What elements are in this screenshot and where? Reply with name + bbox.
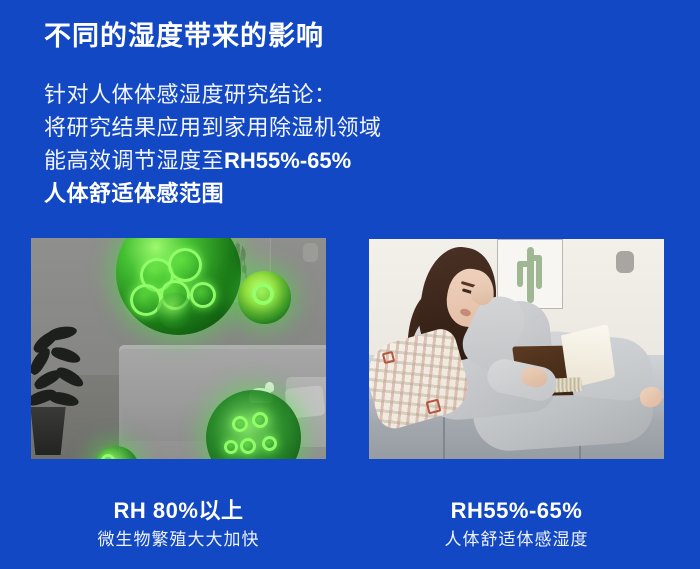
potted-plant-leaves <box>31 323 95 415</box>
wall-sensor-icon <box>303 243 318 262</box>
photo-comfort-humidity <box>369 239 664 459</box>
body-copy-block: 针对人体体感湿度研究结论： 将研究结果应用到家用除湿机领域 能高效调节湿度至RH… <box>44 78 382 210</box>
caption-subtitle: 微生物繁殖大大加快 <box>31 526 326 554</box>
microbe-icon <box>157 293 193 329</box>
microbe-icon <box>238 271 291 324</box>
sofa-seam <box>443 417 445 459</box>
body-line-3: 能高效调节湿度至RH55%-65% <box>44 144 382 177</box>
caption-high-humidity: RH 80%以上 微生物繁殖大大加快 <box>31 496 326 554</box>
cactus-art-icon <box>515 245 545 303</box>
body-line-1: 针对人体体感湿度研究结论： <box>44 78 382 111</box>
body-line-3-range: RH55%-65% <box>224 148 351 173</box>
dark-living-room-scene <box>31 238 326 459</box>
photo-high-humidity <box>31 238 326 459</box>
caption-title: RH 80%以上 <box>31 496 326 526</box>
page-title: 不同的湿度带来的影响 <box>44 20 324 52</box>
caption-title: RH55%-65% <box>369 496 664 526</box>
bright-living-room-scene <box>369 239 664 459</box>
wall-sensor-icon <box>616 251 634 273</box>
body-line-2: 将研究结果应用到家用除湿机领域 <box>44 111 382 144</box>
caption-subtitle: 人体舒适体感湿度 <box>369 526 664 554</box>
body-line-4: 人体舒适体感范围 <box>44 177 382 210</box>
humidity-infographic-poster: 不同的湿度带来的影响 针对人体体感湿度研究结论： 将研究结果应用到家用除湿机领域… <box>0 0 700 569</box>
caption-comfort-humidity: RH55%-65% 人体舒适体感湿度 <box>369 496 664 554</box>
body-line-3-prefix: 能高效调节湿度至 <box>44 148 224 173</box>
